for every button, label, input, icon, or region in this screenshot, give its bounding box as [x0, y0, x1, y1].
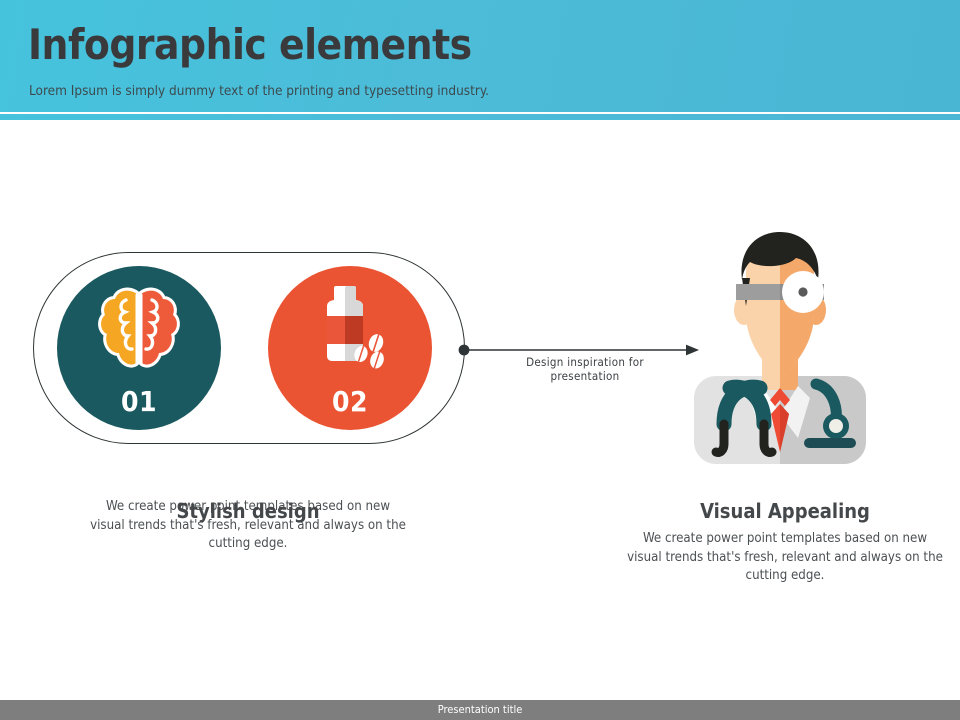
connector-label: Design inspiration for presentation: [480, 355, 690, 384]
connector-label-line2: presentation: [550, 369, 619, 383]
page-subtitle: Lorem Ipsum is simply dummy text of the …: [29, 83, 489, 99]
info-body-right: We create power point templates based on…: [625, 530, 945, 586]
info-heading-right: Visual Appealing: [625, 498, 945, 525]
step-number-01: 01: [57, 385, 221, 418]
step-number-02: 02: [268, 385, 432, 418]
medicine-bottle-icon: [305, 284, 395, 382]
header-lower-band: [0, 114, 960, 120]
footer-title: Presentation title: [0, 703, 960, 716]
connector-label-line1: Design inspiration for: [526, 355, 644, 369]
info-block-right: Visual Appealing We create power point t…: [625, 498, 945, 586]
info-heading-left: Stylish design: [173, 498, 323, 525]
step-circle-01[interactable]: 01: [57, 266, 221, 430]
doctor-avatar-icon: [686, 228, 874, 468]
info-block-left: Stylish design We create power point tem…: [88, 498, 408, 554]
page-title: Infographic elements: [28, 20, 472, 69]
step-circle-02[interactable]: 02: [268, 266, 432, 430]
brain-icon: [96, 284, 182, 380]
